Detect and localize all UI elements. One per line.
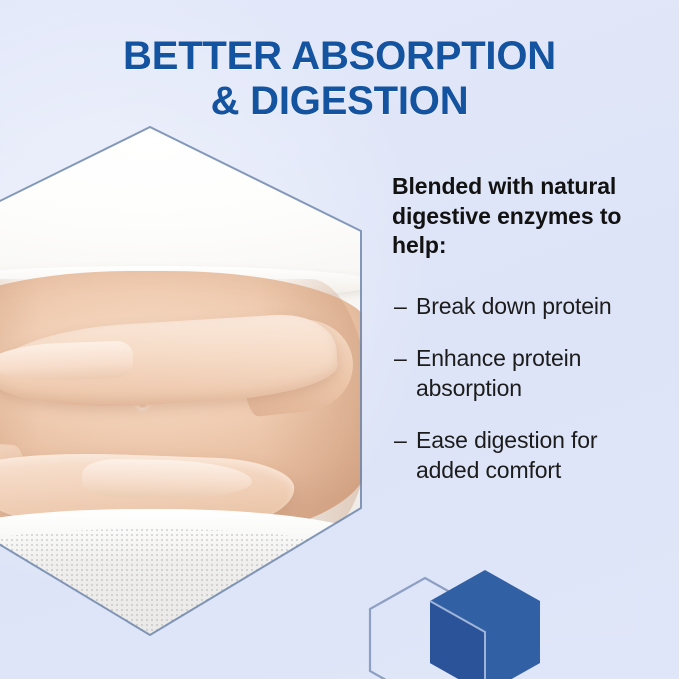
bullet-dash-icon: – [394, 343, 407, 373]
photo-vignette [0, 126, 362, 636]
list-item-label: Break down protein [416, 293, 611, 319]
bullet-dash-icon: – [394, 425, 407, 455]
copy-block: Blended with natural digestive enzymes t… [392, 172, 654, 485]
hero-photo-hexagon [0, 126, 362, 636]
hero-photo [0, 126, 362, 636]
infographic-canvas: BETTER ABSORPTION & DIGESTION Ble [0, 0, 679, 679]
bullet-dash-icon: – [394, 291, 407, 321]
benefits-list: – Break down protein – Enhance protein a… [392, 291, 654, 485]
page-title-line-1: BETTER ABSORPTION [123, 34, 556, 78]
list-item: – Ease digestion for added comfort [392, 425, 654, 485]
copy-heading: Blended with natural digestive enzymes t… [392, 172, 654, 261]
list-item-label: Ease digestion for added comfort [416, 427, 597, 483]
list-item-label: Enhance protein absorption [416, 345, 581, 401]
list-item: – Break down protein [392, 291, 654, 321]
decorative-hexagons [368, 548, 568, 679]
page-title: BETTER ABSORPTION & DIGESTION [0, 34, 679, 124]
hexagon-solid-icon [430, 570, 540, 679]
page-title-line-2: & DIGESTION [0, 79, 679, 124]
list-item: – Enhance protein absorption [392, 343, 654, 403]
